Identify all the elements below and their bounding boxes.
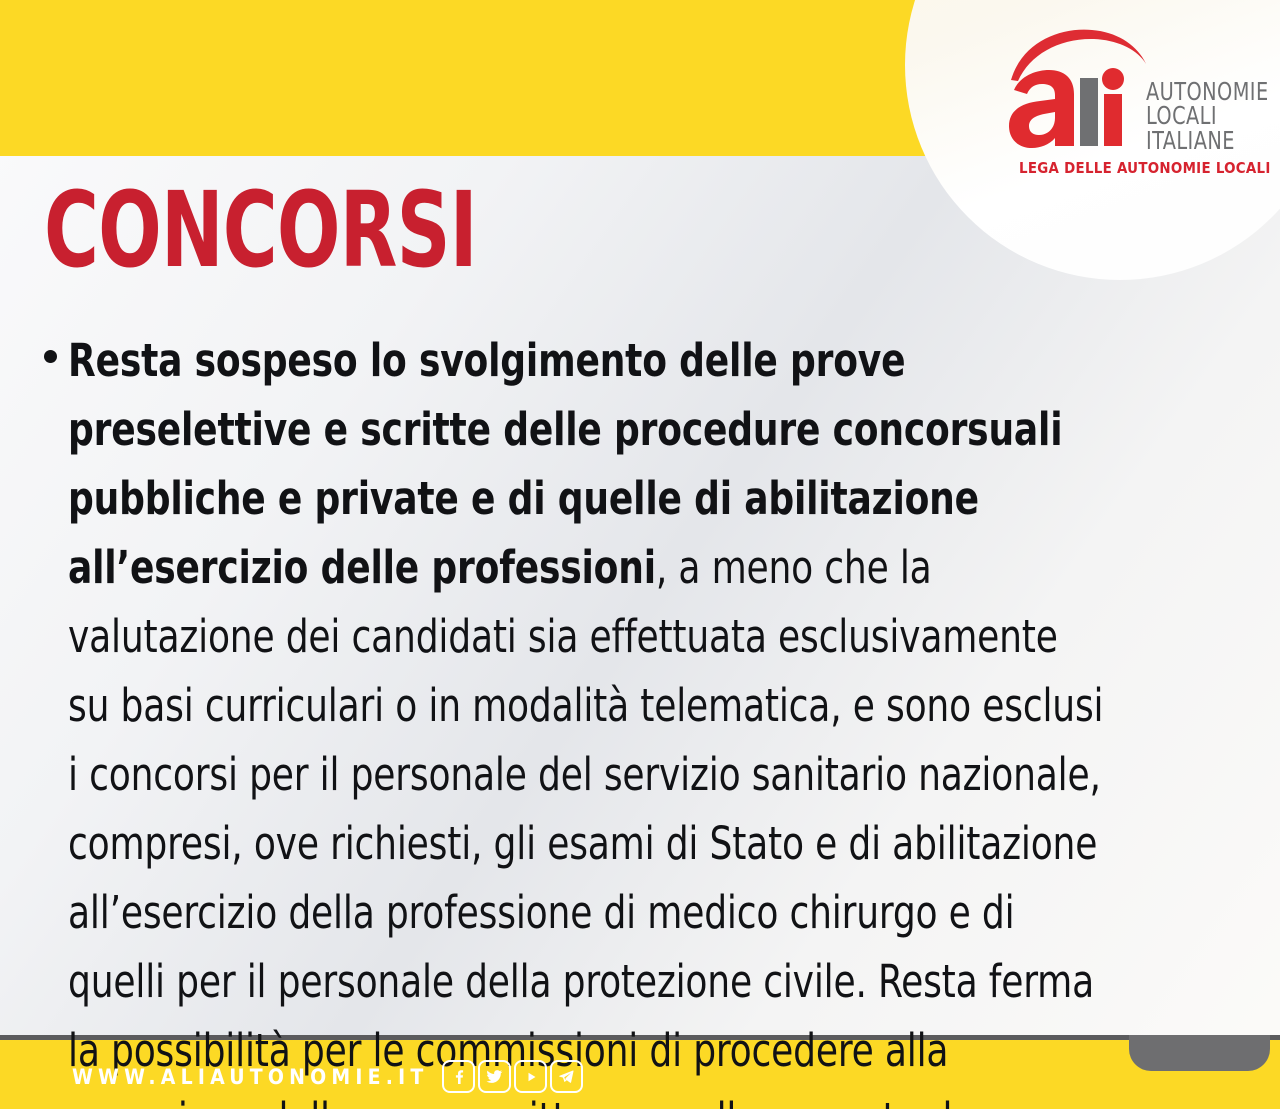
content-body: Resta sospeso lo svolgimento delle prove…	[44, 326, 1236, 1109]
facebook-glyph	[451, 1069, 467, 1085]
page-title: CONCORSI	[44, 183, 477, 279]
social-links	[442, 1060, 583, 1093]
footer-notch-tab	[1129, 1035, 1270, 1071]
logo-tagline: LEGA DELLE AUTONOMIE LOCALI	[1019, 159, 1271, 177]
youtube-play-glyph	[523, 1069, 539, 1085]
logo-words: AUTONOMIE LOCALI ITALIANE	[1146, 80, 1269, 153]
bullet-dot-icon	[44, 350, 57, 363]
website-url[interactable]: WWW.ALIAUTONOMIE.IT	[72, 1065, 428, 1089]
logo-wordmark-ali	[1008, 56, 1140, 148]
footer-content: WWW.ALIAUTONOMIE.IT	[72, 1060, 583, 1093]
brand-logo: AUTONOMIE LOCALI ITALIANE LEGA DELLE AUT…	[1008, 26, 1258, 186]
twitter-icon[interactable]	[478, 1060, 511, 1093]
bullet-paragraph: Resta sospeso lo svolgimento delle prove…	[68, 326, 1108, 1109]
infographic-card: AUTONOMIE LOCALI ITALIANE LEGA DELLE AUT…	[0, 0, 1280, 1109]
bullet-item: Resta sospeso lo svolgimento delle prove…	[44, 326, 1236, 1109]
youtube-icon[interactable]	[514, 1060, 547, 1093]
logo-word-line: LOCALI	[1146, 104, 1269, 128]
telegram-plane-glyph	[558, 1068, 575, 1085]
paragraph-regular-part: , a meno che la valutazione dei candidat…	[68, 541, 1103, 1109]
facebook-icon[interactable]	[442, 1060, 475, 1093]
twitter-glyph	[486, 1068, 503, 1085]
logo-word-line: ITALIANE	[1146, 129, 1269, 153]
telegram-icon[interactable]	[550, 1060, 583, 1093]
